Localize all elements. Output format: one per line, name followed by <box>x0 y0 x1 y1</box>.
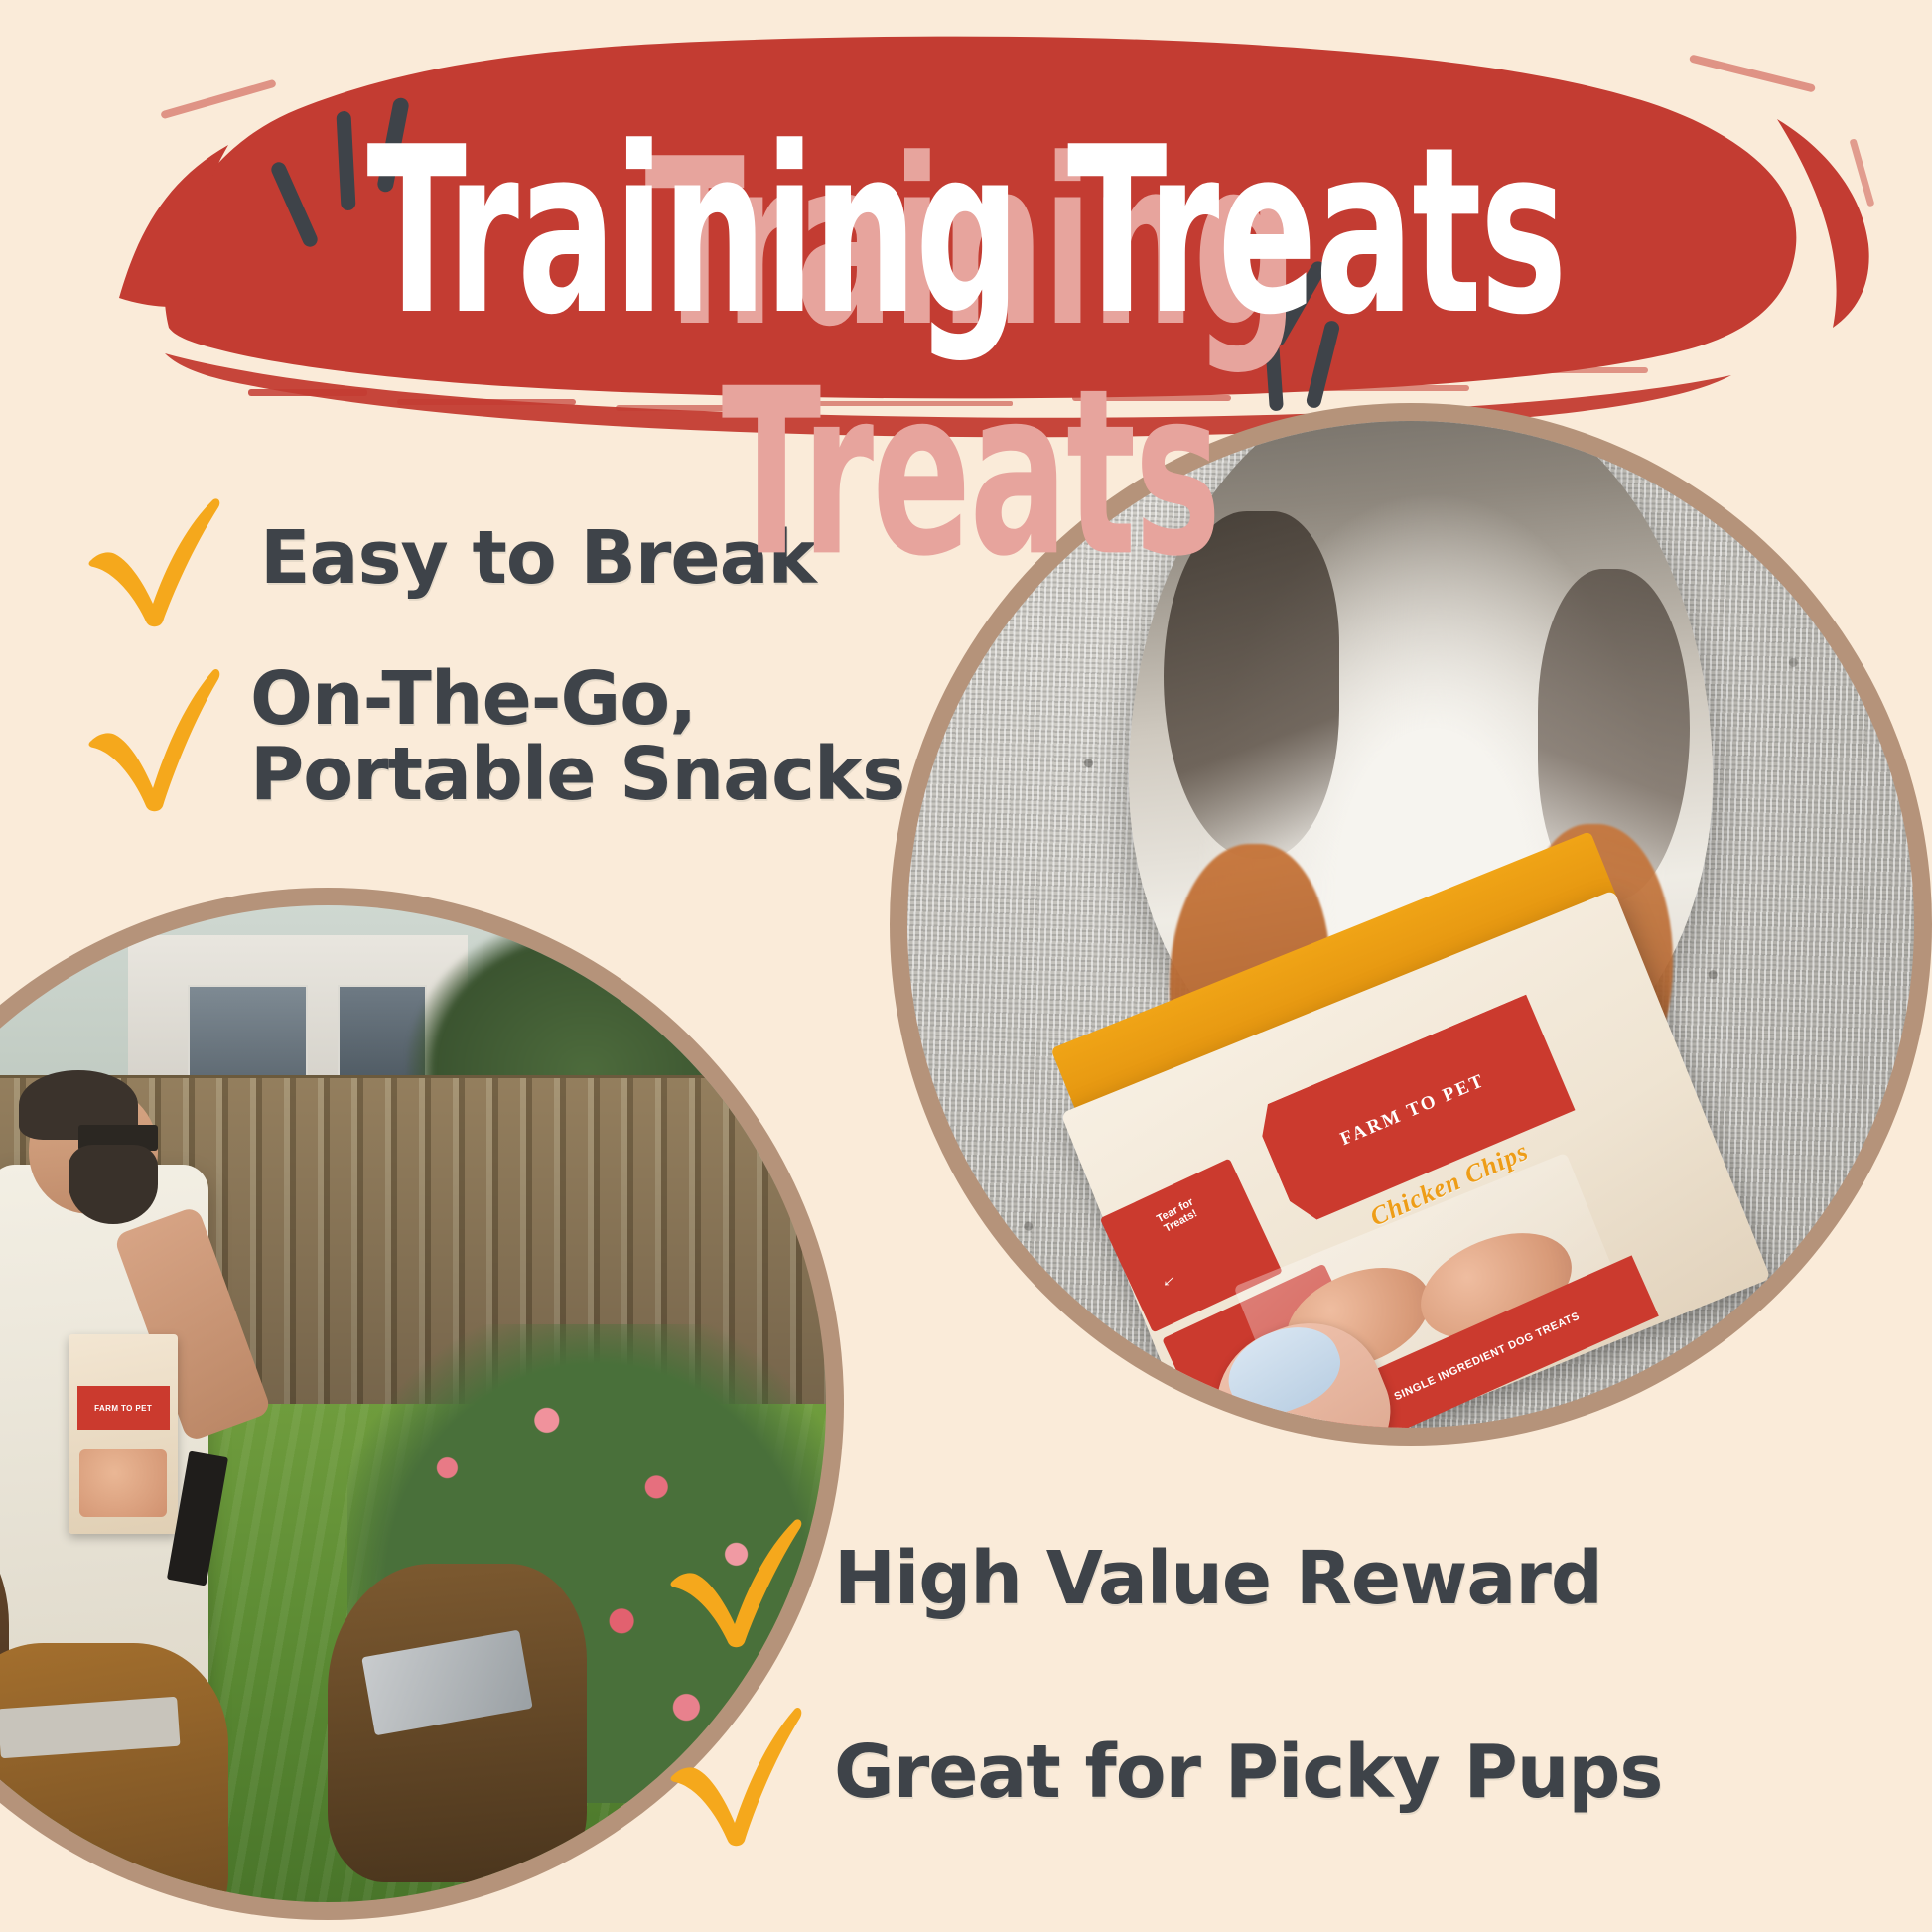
check-icon <box>77 657 226 816</box>
benefit-label-great-for-picky-pups: Great for Picky Pups <box>834 1734 1662 1810</box>
benefit-item-easy-to-break: Easy to Break <box>77 488 816 627</box>
puppy-photo-circle: Tear for Treats! ← FARM TO PET Chicken C… <box>890 403 1932 1446</box>
check-icon <box>659 1698 808 1847</box>
benefit-item-high-value-reward: High Value Reward <box>659 1509 1602 1648</box>
held-treat-bag: FARM TO PET <box>69 1334 178 1534</box>
dog-center <box>0 1643 228 1902</box>
benefit-item-portable-snacks: On-The-Go, Portable Snacks <box>77 657 904 816</box>
benefit-item-great-for-picky-pups: Great for Picky Pups <box>659 1698 1662 1847</box>
benefit-label-line-1: On-The-Go, <box>250 656 696 742</box>
puppy-with-treat-bag-photo: Tear for Treats! ← FARM TO PET Chicken C… <box>907 421 1914 1428</box>
benefit-label-portable-snacks: On-The-Go, Portable Snacks <box>250 661 904 812</box>
check-icon <box>77 488 226 627</box>
training-treats-poster: Training Treats Training Treats <box>0 0 1932 1932</box>
puppy-photo-frame: Tear for Treats! ← FARM TO PET Chicken C… <box>907 421 1914 1428</box>
tear-arrow-icon: ← <box>1153 1265 1182 1295</box>
benefit-label-line-2: Portable Snacks <box>250 732 904 817</box>
check-icon <box>659 1509 808 1648</box>
held-bag-chips <box>79 1449 167 1517</box>
benefit-label-easy-to-break: Easy to Break <box>260 520 816 596</box>
header-brush-stroke <box>0 0 1932 467</box>
benefit-label-high-value-reward: High Value Reward <box>834 1541 1602 1616</box>
held-bag-brand-tag: FARM TO PET <box>77 1386 170 1430</box>
dog-right <box>328 1564 587 1882</box>
man-beard <box>69 1145 158 1224</box>
bag-brand-text: FARM TO PET <box>1338 1070 1489 1151</box>
bag-tear-label: Tear for Treats! <box>1117 1177 1239 1257</box>
